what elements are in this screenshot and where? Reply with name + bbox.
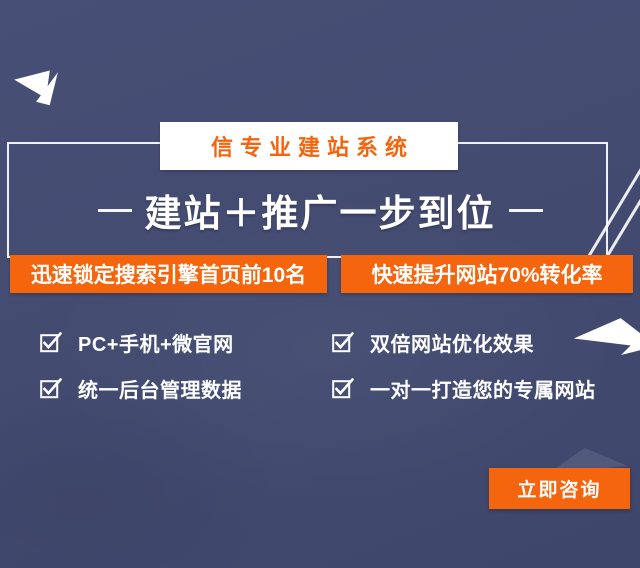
checkbox-checked-icon [40, 332, 62, 354]
headline-rule-left [98, 209, 132, 212]
paper-plane-top-left-wing-a [12, 66, 50, 98]
badge-label: 信专业建站系统 [204, 130, 414, 162]
feature-list: PC+手机+微官网 双倍网站优化效果 [40, 328, 630, 420]
feature-item-pc-mobile-wechat: PC+手机+微官网 [40, 328, 332, 357]
feature-label: 统一后台管理数据 [78, 374, 242, 403]
checkbox-checked-icon [332, 378, 354, 400]
page-title: 建站＋推广一步到位 [145, 183, 496, 237]
consult-now-button[interactable]: 立即咨询 [489, 468, 630, 509]
checkbox-checked-icon [332, 332, 354, 354]
paper-plane-top-left-wing-b [36, 69, 58, 105]
feature-item-double-seo: 双倍网站优化效果 [332, 328, 630, 357]
highlight-strip-left-label: 迅速锁定搜索引擎首页前10名 [31, 259, 306, 289]
feature-label: 一对一打造您的专属网站 [370, 374, 596, 403]
badge-plate: 信专业建站系统 [160, 122, 458, 170]
feature-item-unified-backend: 统一后台管理数据 [40, 374, 332, 403]
feature-item-one-on-one: 一对一打造您的专属网站 [332, 374, 630, 403]
highlight-strip-right: 快速提升网站70%转化率 [341, 255, 633, 293]
feature-label: 双倍网站优化效果 [370, 328, 534, 357]
highlight-strip-left: 迅速锁定搜索引擎首页前10名 [10, 255, 327, 293]
feature-label: PC+手机+微官网 [78, 328, 234, 357]
headline-rule-right [509, 209, 543, 212]
headline-row: 建站＋推广一步到位 [0, 180, 640, 240]
checkbox-checked-icon [40, 378, 62, 400]
promo-banner: 信专业建站系统 建站＋推广一步到位 迅速锁定搜索引擎首页前10名 快速提升网站7… [0, 0, 640, 568]
feature-row: 统一后台管理数据 一对一打造您的专属网站 [40, 374, 630, 403]
highlight-strip-right-label: 快速提升网站70%转化率 [371, 259, 602, 289]
feature-row: PC+手机+微官网 双倍网站优化效果 [40, 328, 630, 357]
